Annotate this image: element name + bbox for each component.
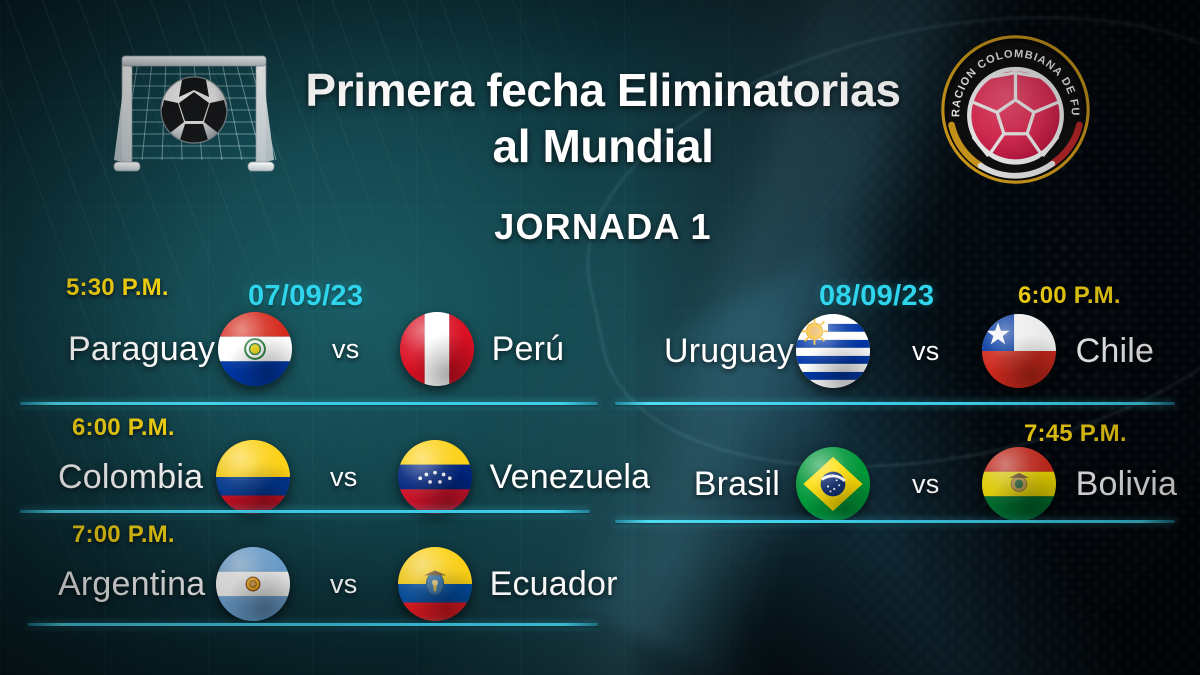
- vignette-overlay: [0, 0, 1200, 675]
- graphic-canvas: Primera fecha Eliminatorias al Mundial J…: [0, 0, 1200, 675]
